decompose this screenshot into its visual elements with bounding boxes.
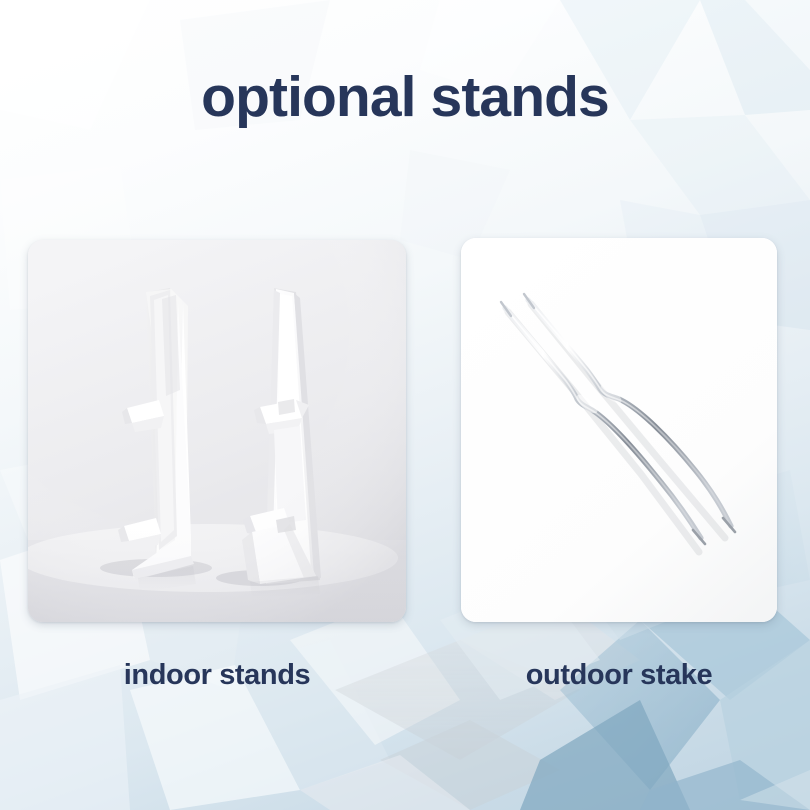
caption-outdoor-stake: outdoor stake [461,659,777,692]
indoor-stands-photo [28,240,406,622]
outdoor-stake-photo [461,238,777,622]
outdoor-stake-card[interactable] [461,238,777,622]
indoor-stands-card[interactable] [28,240,406,622]
caption-indoor-stands: indoor stands [28,659,406,692]
page-title: optional stands [0,68,810,128]
product-stands-graphic: optional stands [0,0,810,810]
